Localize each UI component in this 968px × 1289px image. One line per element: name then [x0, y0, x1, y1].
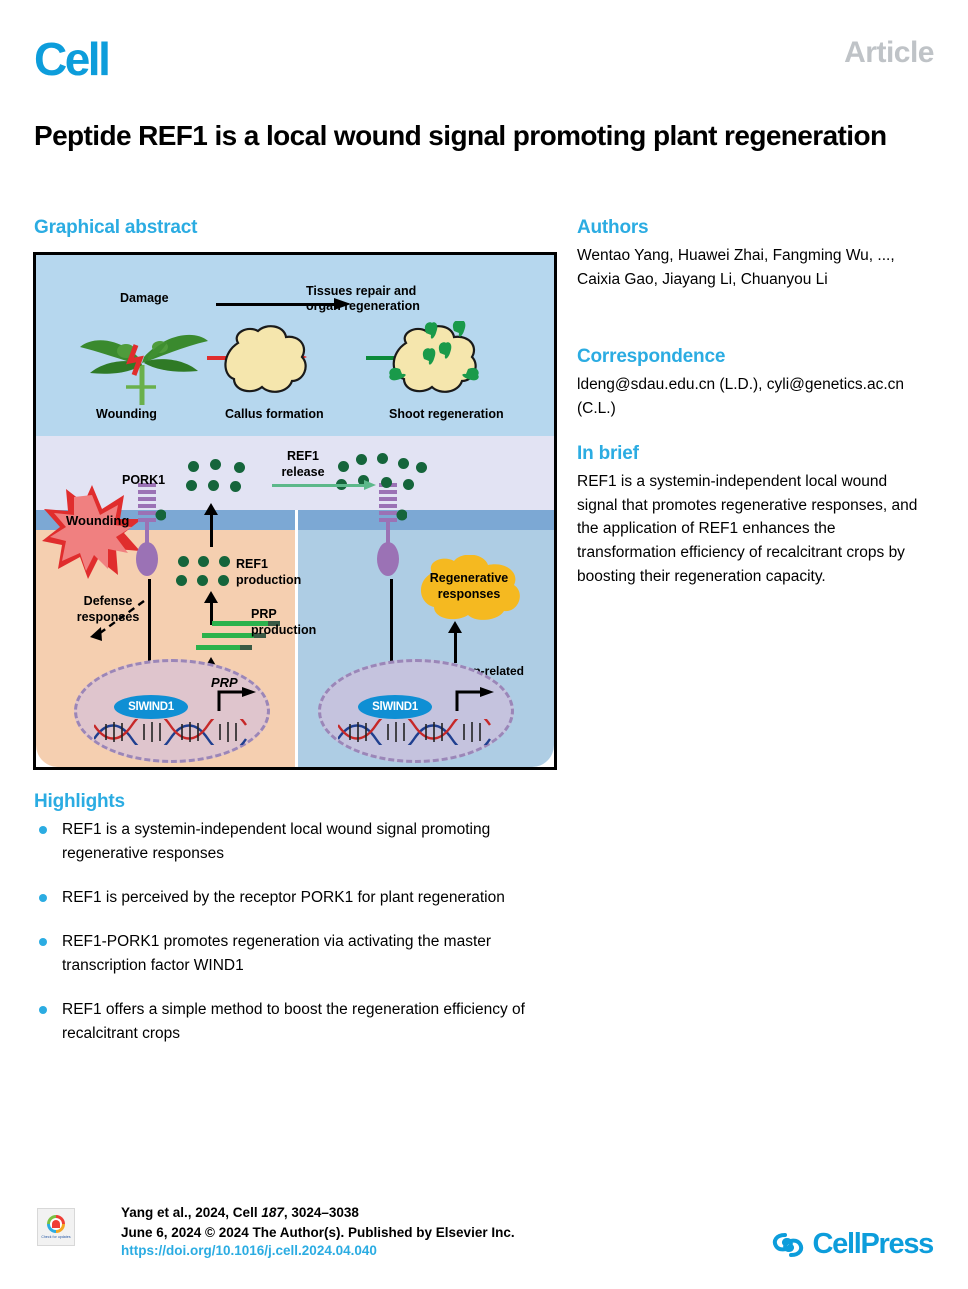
- callus-with-shoots-icon: [386, 321, 482, 395]
- figure-label-pork1: PORK1: [122, 473, 165, 488]
- footer-citation: Yang et al., 2024, Cell 187, 3024–3038 J…: [121, 1203, 515, 1243]
- cellpress-wordmark: CellPress: [813, 1228, 934, 1261]
- figure-label-shoot-regeneration: Shoot regeneration: [389, 407, 504, 422]
- correspondence-emails[interactable]: ldeng@sdau.edu.cn (L.D.), cyli@genetics.…: [577, 373, 927, 421]
- correspondence-heading: Correspondence: [577, 346, 725, 368]
- arrow-genes-to-regen-responses: [448, 621, 462, 663]
- slwind1-right-badge: SlWIND1: [358, 695, 432, 719]
- citation-volume: 187: [261, 1205, 284, 1220]
- bullet-icon: [39, 1006, 47, 1014]
- ref1-peptide-cluster-left: [186, 459, 256, 495]
- highlight-text: REF1 is a systemin-independent local wou…: [62, 821, 490, 862]
- plant-illustration-icon: [64, 317, 224, 407]
- ref1-peptide-cluster-right: [336, 453, 436, 493]
- figure-label-callus-formation: Callus formation: [225, 407, 324, 422]
- article-type-label: Article: [844, 36, 934, 70]
- in-brief-text: REF1 is a systemin-independent local wou…: [577, 470, 927, 589]
- highlight-text: REF1 is perceived by the receptor PORK1 …: [62, 889, 505, 906]
- list-item: REF1 is a systemin-independent local wou…: [34, 818, 554, 866]
- figure-label-ref1-production: REF1production: [236, 557, 316, 588]
- in-brief-heading: In brief: [577, 443, 639, 465]
- cellpress-logo[interactable]: CellPress: [772, 1228, 934, 1261]
- figure-label-defense-responses: Defenseresponses: [62, 593, 154, 626]
- bullet-icon: [39, 938, 47, 946]
- authors-heading: Authors: [577, 217, 648, 239]
- dna-helix-left-icon: [94, 719, 252, 745]
- graphical-abstract-figure: Damage Tissues repair andorgan regenerat…: [33, 252, 557, 770]
- dna-helix-right-icon: [338, 719, 496, 745]
- wounding-starburst-icon: [40, 483, 144, 579]
- crossmark-icon: [47, 1215, 65, 1233]
- list-item: REF1-PORK1 promotes regeneration via act…: [34, 930, 554, 978]
- figure-label-wounding-mid: Wounding: [66, 513, 129, 529]
- journal-logo-cell: Cell: [34, 36, 108, 82]
- callus-illustration-icon: [218, 323, 312, 395]
- cellpress-mark-icon: [772, 1231, 804, 1259]
- article-cover-page: Cell Article Peptide REF1 is a local wou…: [0, 0, 968, 1289]
- doi-link[interactable]: https://doi.org/10.1016/j.cell.2024.04.0…: [121, 1243, 377, 1258]
- highlight-text: REF1 offers a simple method to boost the…: [62, 1001, 525, 1042]
- badge-label: Check for updates: [41, 1235, 70, 1239]
- figure-label-damage: Damage: [120, 291, 169, 306]
- authors-list: Wentao Yang, Huawei Zhai, Fangming Wu, .…: [577, 244, 927, 292]
- graphical-abstract-heading: Graphical abstract: [34, 217, 197, 239]
- highlight-text: REF1-PORK1 promotes regeneration via act…: [62, 933, 491, 974]
- arrow-prp-to-ref1: [204, 591, 218, 625]
- promoter-arrow-left-icon: [216, 687, 258, 711]
- list-item: REF1 offers a simple method to boost the…: [34, 998, 554, 1046]
- figure-label-regenerative-responses: Regenerativeresponses: [419, 571, 519, 602]
- arrow-ref1-secretion: [204, 503, 218, 547]
- bullet-icon: [39, 894, 47, 902]
- list-item: REF1 is perceived by the receptor PORK1 …: [34, 886, 554, 910]
- figure-label-tissues-repair: Tissues repair andorgan regeneration: [306, 284, 420, 314]
- figure-label-prp-production: PRPproduction: [251, 607, 331, 638]
- slwind1-left-badge: SlWIND1: [114, 695, 188, 719]
- promoter-arrow-right-icon: [454, 687, 496, 711]
- citation-pages: , 3024–3038: [284, 1205, 359, 1220]
- page-title: Peptide REF1 is a local wound signal pro…: [34, 118, 934, 153]
- check-for-updates-badge[interactable]: Check for updates: [37, 1208, 75, 1246]
- citation-publisher-line: June 6, 2024 © 2024 The Author(s). Publi…: [121, 1223, 515, 1243]
- bullet-icon: [39, 826, 47, 834]
- highlights-list: REF1 is a systemin-independent local wou…: [34, 818, 554, 1066]
- figure-label-wounding-top: Wounding: [96, 407, 157, 422]
- figure-label-prp-gene: PRP: [211, 675, 238, 691]
- figure-label-ref1-release: REF1release: [268, 449, 338, 480]
- highlights-heading: Highlights: [34, 791, 125, 813]
- citation-prefix: Yang et al., 2024, Cell: [121, 1205, 261, 1220]
- figure-cell-divider: [295, 510, 298, 767]
